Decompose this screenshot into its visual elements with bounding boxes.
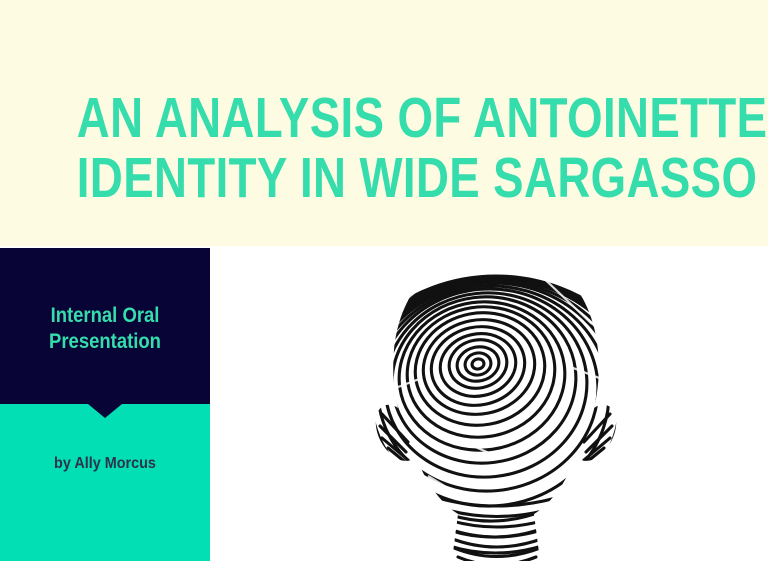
caption-line-1: Internal Oral xyxy=(51,304,160,327)
presentation-title-slide: An Analysis of Antoinette's Identity in … xyxy=(0,0,768,561)
page-title-line-1: An Analysis of Antoinette's xyxy=(77,88,691,148)
title-band: An Analysis of Antoinette's Identity in … xyxy=(0,0,768,246)
caption-block: Internal Oral Presentation xyxy=(0,248,210,404)
caption-text: Internal Oral Presentation xyxy=(13,303,198,355)
fingerprint-head-icon xyxy=(368,246,624,561)
page-title-line-2: Identity in Wide Sargasso Sea xyxy=(77,148,691,208)
caption-pointer-triangle xyxy=(88,404,122,418)
caption-line-2: Presentation xyxy=(49,330,161,353)
page-title: An Analysis of Antoinette's Identity in … xyxy=(77,88,691,208)
author-byline: by Ally Morcus xyxy=(11,454,200,474)
author-block: by Ally Morcus xyxy=(0,404,210,561)
